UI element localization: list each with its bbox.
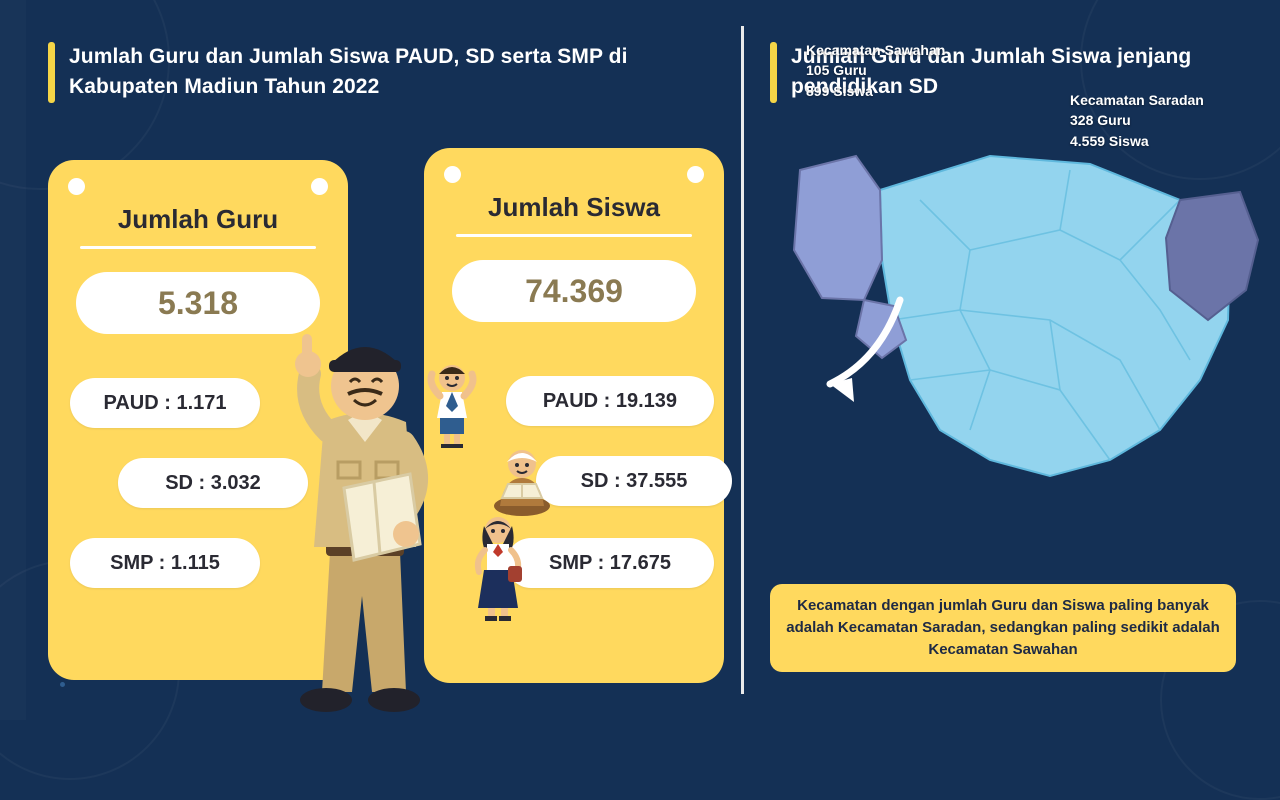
punch-hole-right-icon xyxy=(687,166,704,183)
title-accent-bar xyxy=(770,42,777,103)
guru-row-paud: PAUD : 1.171 xyxy=(70,378,260,428)
guru-card-title: Jumlah Guru xyxy=(48,204,348,235)
guru-row-smp: SMP : 1.115 xyxy=(70,538,260,588)
infographic-canvas: Jumlah Guru dan Jumlah Siswa PAUD, SD se… xyxy=(0,0,1280,720)
siswa-row-sd: SD : 37.555 xyxy=(536,456,732,506)
siswa-row-paud: PAUD : 19.139 xyxy=(506,376,714,426)
punch-hole-right-icon xyxy=(311,178,328,195)
summary-note-text: Kecamatan dengan jumlah Guru dan Siswa p… xyxy=(784,595,1222,660)
map-label-saradan-siswa: 4.559 Siswa xyxy=(1070,131,1204,151)
left-panel: Jumlah Guru dan Jumlah Siswa PAUD, SD se… xyxy=(0,0,740,720)
panel-divider xyxy=(741,26,744,694)
map-label-saradan-guru: 328 Guru xyxy=(1070,110,1204,130)
map-label-saradan-name: Kecamatan Saradan xyxy=(1070,90,1204,110)
left-title-text: Jumlah Guru dan Jumlah Siswa PAUD, SD se… xyxy=(69,42,688,103)
student-boy-illustration-icon xyxy=(420,358,484,448)
siswa-card-divider xyxy=(456,234,692,237)
map-label-sawahan-name: Kecamatan Sawahan xyxy=(806,40,945,60)
summary-note-box: Kecamatan dengan jumlah Guru dan Siswa p… xyxy=(770,584,1236,672)
siswa-total-value: 74.369 xyxy=(452,260,696,322)
map-label-sawahan-guru: 105 Guru xyxy=(806,60,945,80)
siswa-card-title: Jumlah Siswa xyxy=(424,192,724,223)
madiun-regency-map xyxy=(760,130,1280,560)
student-reading-illustration-icon xyxy=(490,440,554,518)
title-accent-bar xyxy=(48,42,55,103)
map-region-sawahan xyxy=(794,156,882,300)
left-title: Jumlah Guru dan Jumlah Siswa PAUD, SD se… xyxy=(48,42,688,103)
guru-card-divider xyxy=(80,246,316,249)
siswa-row-smp: SMP : 17.675 xyxy=(506,538,714,588)
map-label-sawahan-siswa: 899 Siswa xyxy=(806,81,945,101)
right-panel: Jumlah Guru dan Jumlah Siswa jenjang pen… xyxy=(760,0,1280,720)
map-label-saradan: Kecamatan Saradan 328 Guru 4.559 Siswa xyxy=(1070,90,1204,151)
map-label-sawahan: Kecamatan Sawahan 105 Guru 899 Siswa xyxy=(806,40,945,101)
punch-hole-left-icon xyxy=(68,178,85,195)
punch-hole-left-icon xyxy=(444,166,461,183)
student-girl-illustration-icon xyxy=(468,512,528,622)
